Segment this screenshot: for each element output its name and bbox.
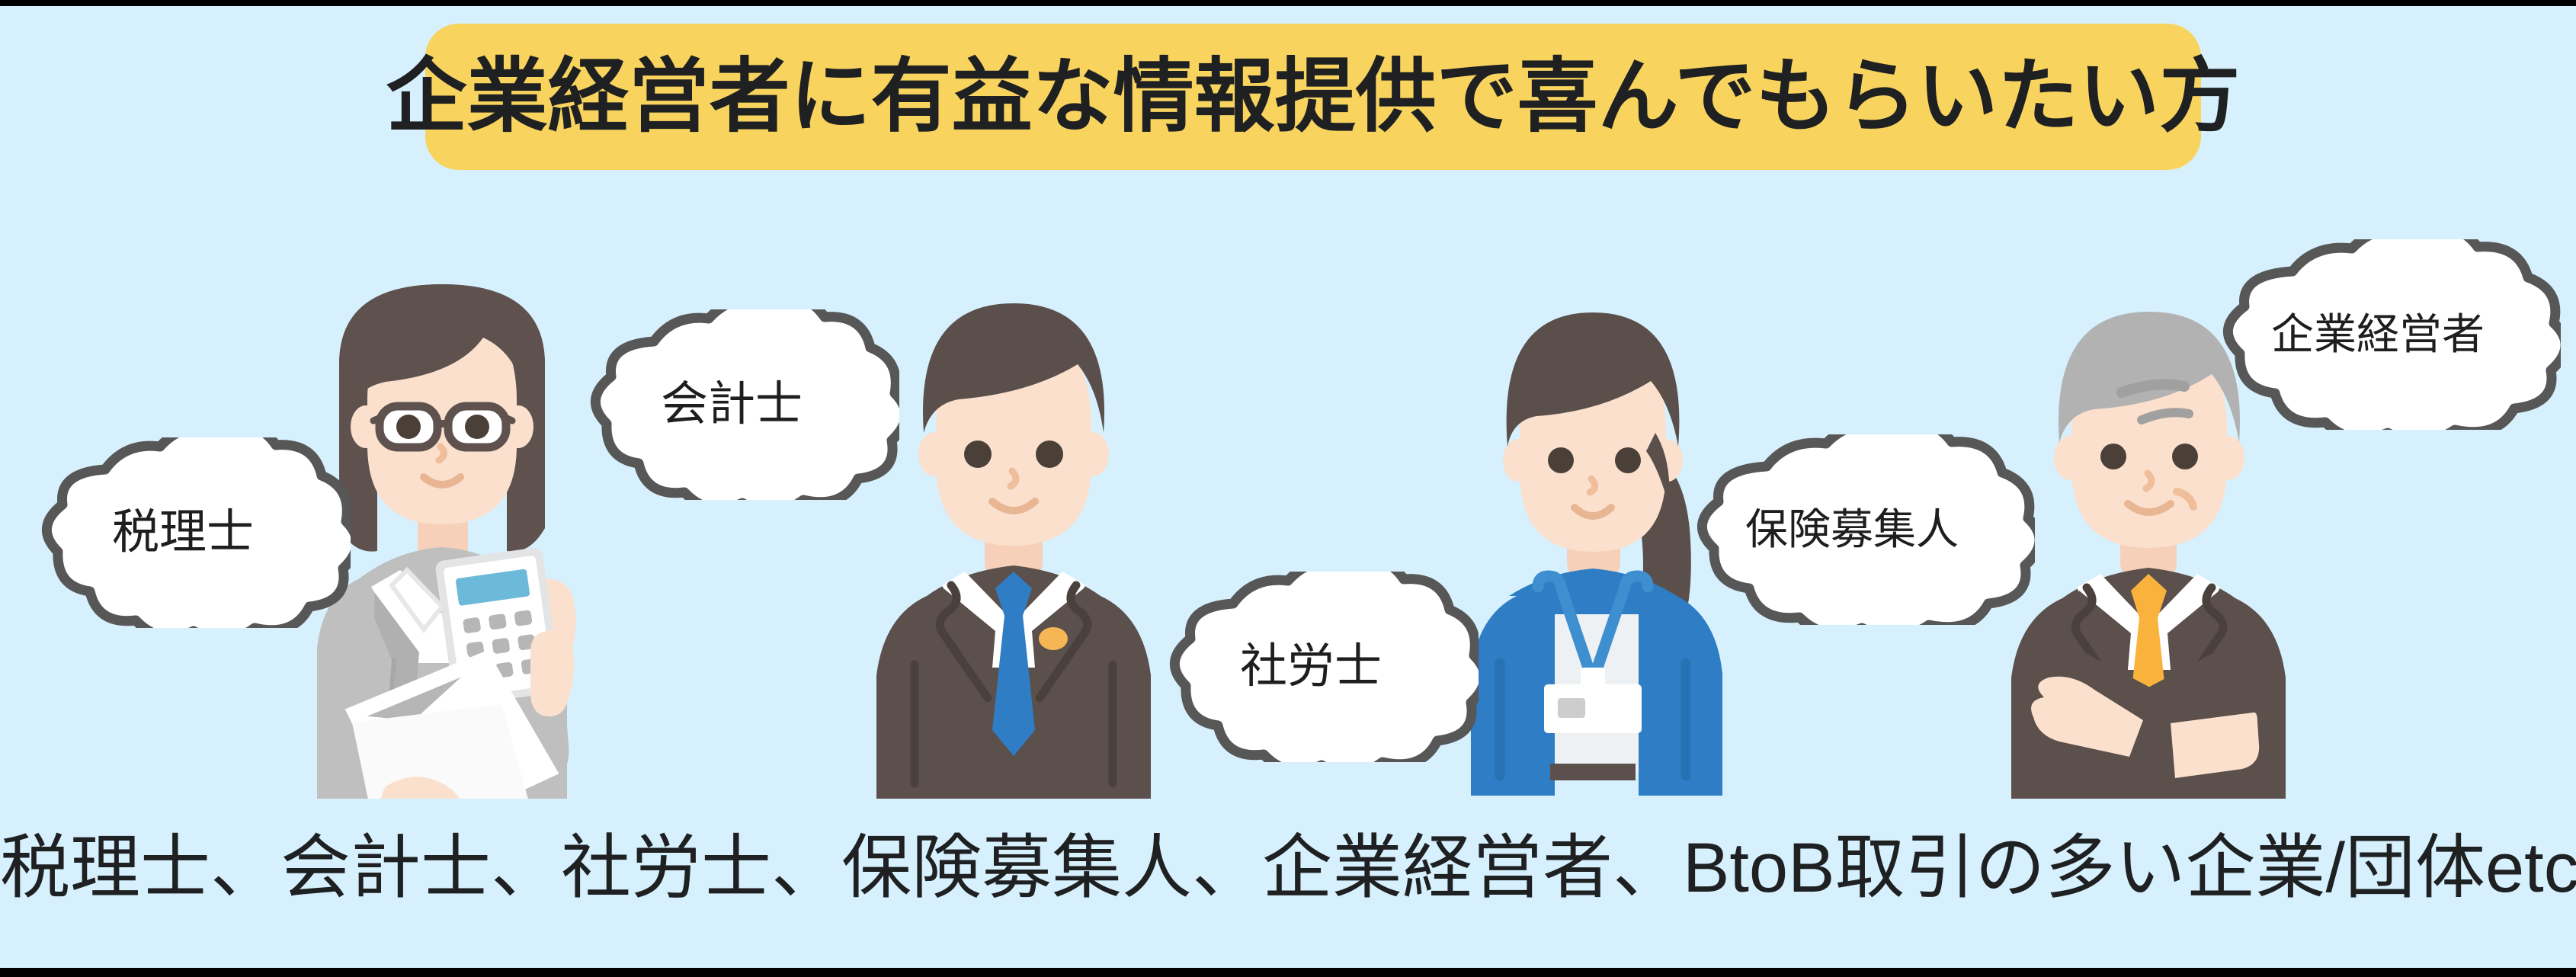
bubble-label: 会計士	[661, 381, 803, 428]
page-title: 企業経営者に有益な情報提供で喜んでもらいたい方	[386, 56, 2241, 137]
speech-bubble-insurance-agent[interactable]: 保険募集人	[1669, 434, 2035, 625]
speech-bubble-certified-accountant[interactable]: 会計士	[564, 309, 899, 500]
speech-bubble-labor-consultant[interactable]: 社労士	[1143, 572, 1479, 762]
bubble-label: 保険募集人	[1745, 508, 1959, 551]
bubble-label: 社労士	[1240, 643, 1382, 690]
slide-content-area: 税理士 会計士 社労士	[0, 6, 2576, 968]
slide-canvas: 税理士 会計士 社労士	[0, 0, 2576, 977]
title-banner: 企業経営者に有益な情報提供で喜んでもらいたい方	[425, 24, 2201, 170]
bottom-frame-bar	[0, 968, 2576, 977]
speech-bubble-tax-accountant[interactable]: 税理士	[15, 437, 351, 628]
speech-bubble-business-owner[interactable]: 企業経営者	[2195, 239, 2561, 430]
bubble-label: 企業経営者	[2271, 313, 2485, 356]
caption-text: 税理士、会計士、社労士、保険募集人、企業経営者、BtoB取引の多い企業/団体et…	[0, 833, 2576, 903]
top-frame-bar	[0, 0, 2576, 6]
bubble-label: 税理士	[112, 509, 254, 556]
